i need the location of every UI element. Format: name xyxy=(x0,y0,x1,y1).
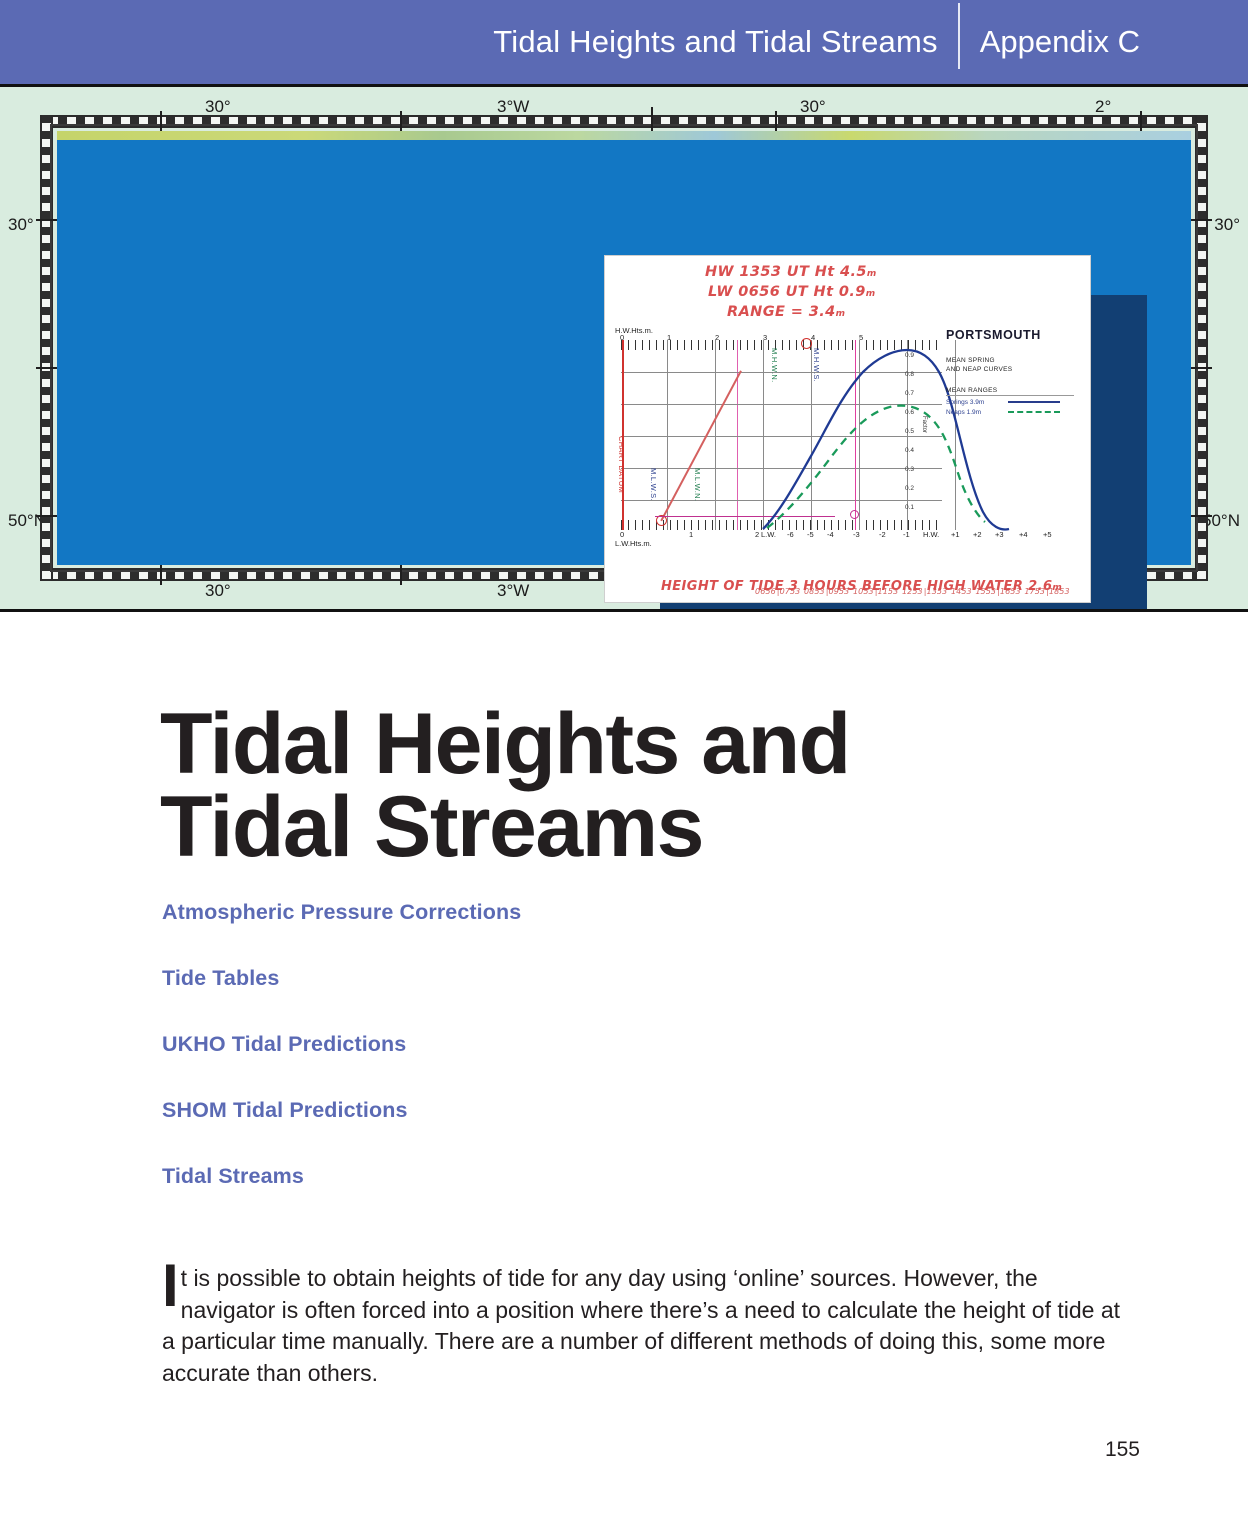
graticule-tick xyxy=(1188,515,1212,517)
factor-tick-0.8: 0.8 xyxy=(905,371,914,378)
factor-tick-0.2: 0.2 xyxy=(905,485,914,492)
tide-height-marker xyxy=(850,510,859,519)
graticule-top-band xyxy=(40,115,1208,128)
legend-springs-label: Springs 3.9m xyxy=(946,399,1008,406)
hour-tick-hw: H.W. xyxy=(923,530,939,539)
neap-curve xyxy=(767,406,985,528)
map-label-left-1: 30° xyxy=(8,215,34,235)
hour-tick-+2: +2 xyxy=(973,530,982,539)
toc-link-tide-tables[interactable]: Tide Tables xyxy=(162,966,862,991)
legend-subtitle-line1: MEAN SPRING xyxy=(946,356,1074,365)
grid-line-h xyxy=(621,436,942,437)
drop-cap: I xyxy=(162,1265,179,1307)
hour-tick-+4: +4 xyxy=(1019,530,1028,539)
mlwn-label: M.L.W.N. xyxy=(693,468,702,501)
graticule-tick xyxy=(400,563,402,585)
graticule-right-band xyxy=(1195,115,1208,581)
grid-line-v xyxy=(907,340,908,530)
high-water-marker xyxy=(801,338,812,349)
header-divider xyxy=(958,3,960,69)
grid-line-v xyxy=(715,340,716,530)
factor-tick-0.4: 0.4 xyxy=(905,447,914,454)
legend-neaps-label: Neaps 1.9m xyxy=(946,409,1008,416)
legend-ranges-heading: MEAN RANGES xyxy=(946,387,1074,396)
map-label-top-3: 30° xyxy=(800,97,826,117)
mlws-label: M.L.W.S. xyxy=(649,468,658,501)
hour-tick--5: -5 xyxy=(807,530,814,539)
legend-neaps-swatch xyxy=(1008,411,1060,413)
map-label-bottom-2: 3°W xyxy=(497,581,529,601)
toc-link-ukho-tidal-predictions[interactable]: UKHO Tidal Predictions xyxy=(162,1032,862,1057)
grid-line-h xyxy=(621,372,942,373)
graticule-tick xyxy=(1140,111,1142,133)
legend-row-springs: Springs 3.9m xyxy=(946,399,1074,406)
height-scale-bottom-ruler xyxy=(621,520,942,530)
hour-tick-+1: +1 xyxy=(951,530,960,539)
graticule-tick xyxy=(160,563,162,585)
grid-line-h xyxy=(621,500,942,501)
grid-line-v xyxy=(667,340,668,530)
factor-tick-0.6: 0.6 xyxy=(905,409,914,416)
tidal-curve-legend: PORTSMOUTH MEAN SPRING AND NEAP CURVES M… xyxy=(946,328,1074,416)
graticule-tick xyxy=(1188,219,1212,221)
factor-tick-0.3: 0.3 xyxy=(905,466,914,473)
coastline-strip xyxy=(57,131,1191,140)
height-tick-bottom-1: 1 xyxy=(689,530,693,539)
annotation-low-water: LW 0656 UT Ht 0.9m xyxy=(708,284,876,300)
chart-datum-label: CHART DATUM xyxy=(617,436,626,493)
hour-tick--6: -6 xyxy=(787,530,794,539)
hour-tick--4: -4 xyxy=(827,530,834,539)
tidal-curve-card: HW 1353 UT Ht 4.5m LW 0656 UT Ht 0.9m RA… xyxy=(604,255,1091,603)
chart-figure: 30° 3°W 30° 2° 30° 3°W 30° 2° 30° 50°N 3… xyxy=(0,84,1248,612)
magenta-horizontal-line xyxy=(655,516,835,517)
map-label-top-2: 3°W xyxy=(497,97,529,117)
grid-line-v xyxy=(859,340,860,530)
annotation-height-of-tide: HEIGHT OF TIDE 3 HOURS BEFORE HIGH WATER… xyxy=(661,579,1062,594)
grid-line-v xyxy=(763,340,764,530)
height-tick-bottom-2: 2 xyxy=(755,530,759,539)
annotation-range: RANGE = 3.4m xyxy=(727,304,845,320)
hour-tick-+5: +5 xyxy=(1043,530,1052,539)
height-tick-bottom-0: 0 xyxy=(620,530,624,539)
factor-tick-0.1: 0.1 xyxy=(905,504,914,511)
graticule-tick xyxy=(400,111,402,133)
mhws-label: M.H.W.S. xyxy=(812,348,821,382)
toc-link-atmospheric-pressure-corrections[interactable]: Atmospheric Pressure Corrections xyxy=(162,900,862,925)
intro-paragraph-text: t is possible to obtain heights of tide … xyxy=(162,1265,1120,1386)
grid-line-h xyxy=(621,468,942,469)
graticule-tick xyxy=(651,107,653,133)
toc-link-shom-tidal-predictions[interactable]: SHOM Tidal Predictions xyxy=(162,1098,862,1123)
annotation-high-water: HW 1353 UT Ht 4.5m xyxy=(705,264,877,280)
hour-tick-+3: +3 xyxy=(995,530,1004,539)
hour-tick-lw: L.W. xyxy=(761,530,776,539)
factor-tick-0.7: 0.7 xyxy=(905,390,914,397)
chart-datum-line xyxy=(622,340,624,530)
unit-metres: m xyxy=(1052,583,1062,593)
lw-heights-caption: L.W.Hts.m. xyxy=(615,539,652,548)
legend-row-neaps: Neaps 1.9m xyxy=(946,409,1074,416)
mhwn-label: M.H.W.N. xyxy=(770,348,779,382)
legend-subtitle-line2: AND NEAP CURVES xyxy=(946,365,1074,374)
graticule-tick xyxy=(1188,367,1212,369)
factor-axis-label: Factor xyxy=(921,416,927,433)
map-label-top-1: 30° xyxy=(205,97,231,117)
graticule-left-band xyxy=(40,115,53,581)
graticule-tick xyxy=(775,111,777,133)
page-number: 155 xyxy=(1105,1438,1140,1462)
unit-metres: m xyxy=(866,289,876,299)
magenta-vertical-line xyxy=(855,340,856,530)
factor-tick-0.5: 0.5 xyxy=(905,428,914,435)
section-link-list: Atmospheric Pressure Corrections Tide Ta… xyxy=(162,900,862,1230)
hour-tick--1: -1 xyxy=(903,530,910,539)
header-title: Tidal Heights and Tidal Streams xyxy=(493,24,937,60)
graticule-tick xyxy=(160,111,162,133)
legend-springs-swatch xyxy=(1008,401,1060,403)
page-title-line1: Tidal Heights and xyxy=(160,696,850,792)
toc-link-tidal-streams[interactable]: Tidal Streams xyxy=(162,1164,862,1189)
map-label-right-1: 30° xyxy=(1214,215,1240,235)
page-header-banner: Tidal Heights and Tidal Streams Appendix… xyxy=(0,0,1248,84)
unit-metres: m xyxy=(867,269,877,279)
tidal-curve-plot: H.W.Hts.m. L.W.Hts.m. 0 1 2 3 4 5 0 1 2 xyxy=(615,324,1082,556)
hour-tick--2: -2 xyxy=(879,530,886,539)
page-title: Tidal Heights and Tidal Streams xyxy=(160,703,1160,870)
legend-subtitle: MEAN SPRING AND NEAP CURVES xyxy=(946,356,1074,375)
map-label-top-4: 2° xyxy=(1095,97,1111,117)
grid-line-v-magenta xyxy=(737,340,738,530)
factor-tick-0.9: 0.9 xyxy=(905,352,914,359)
page-title-line2: Tidal Streams xyxy=(160,779,703,875)
hour-tick--3: -3 xyxy=(853,530,860,539)
unit-metres: m xyxy=(836,309,846,319)
intro-paragraph: It is possible to obtain heights of tide… xyxy=(162,1263,1137,1389)
map-label-bottom-1: 30° xyxy=(205,581,231,601)
grid-line-h xyxy=(621,404,942,405)
header-appendix-label: Appendix C xyxy=(980,24,1140,60)
legend-port-name: PORTSMOUTH xyxy=(946,328,1074,342)
